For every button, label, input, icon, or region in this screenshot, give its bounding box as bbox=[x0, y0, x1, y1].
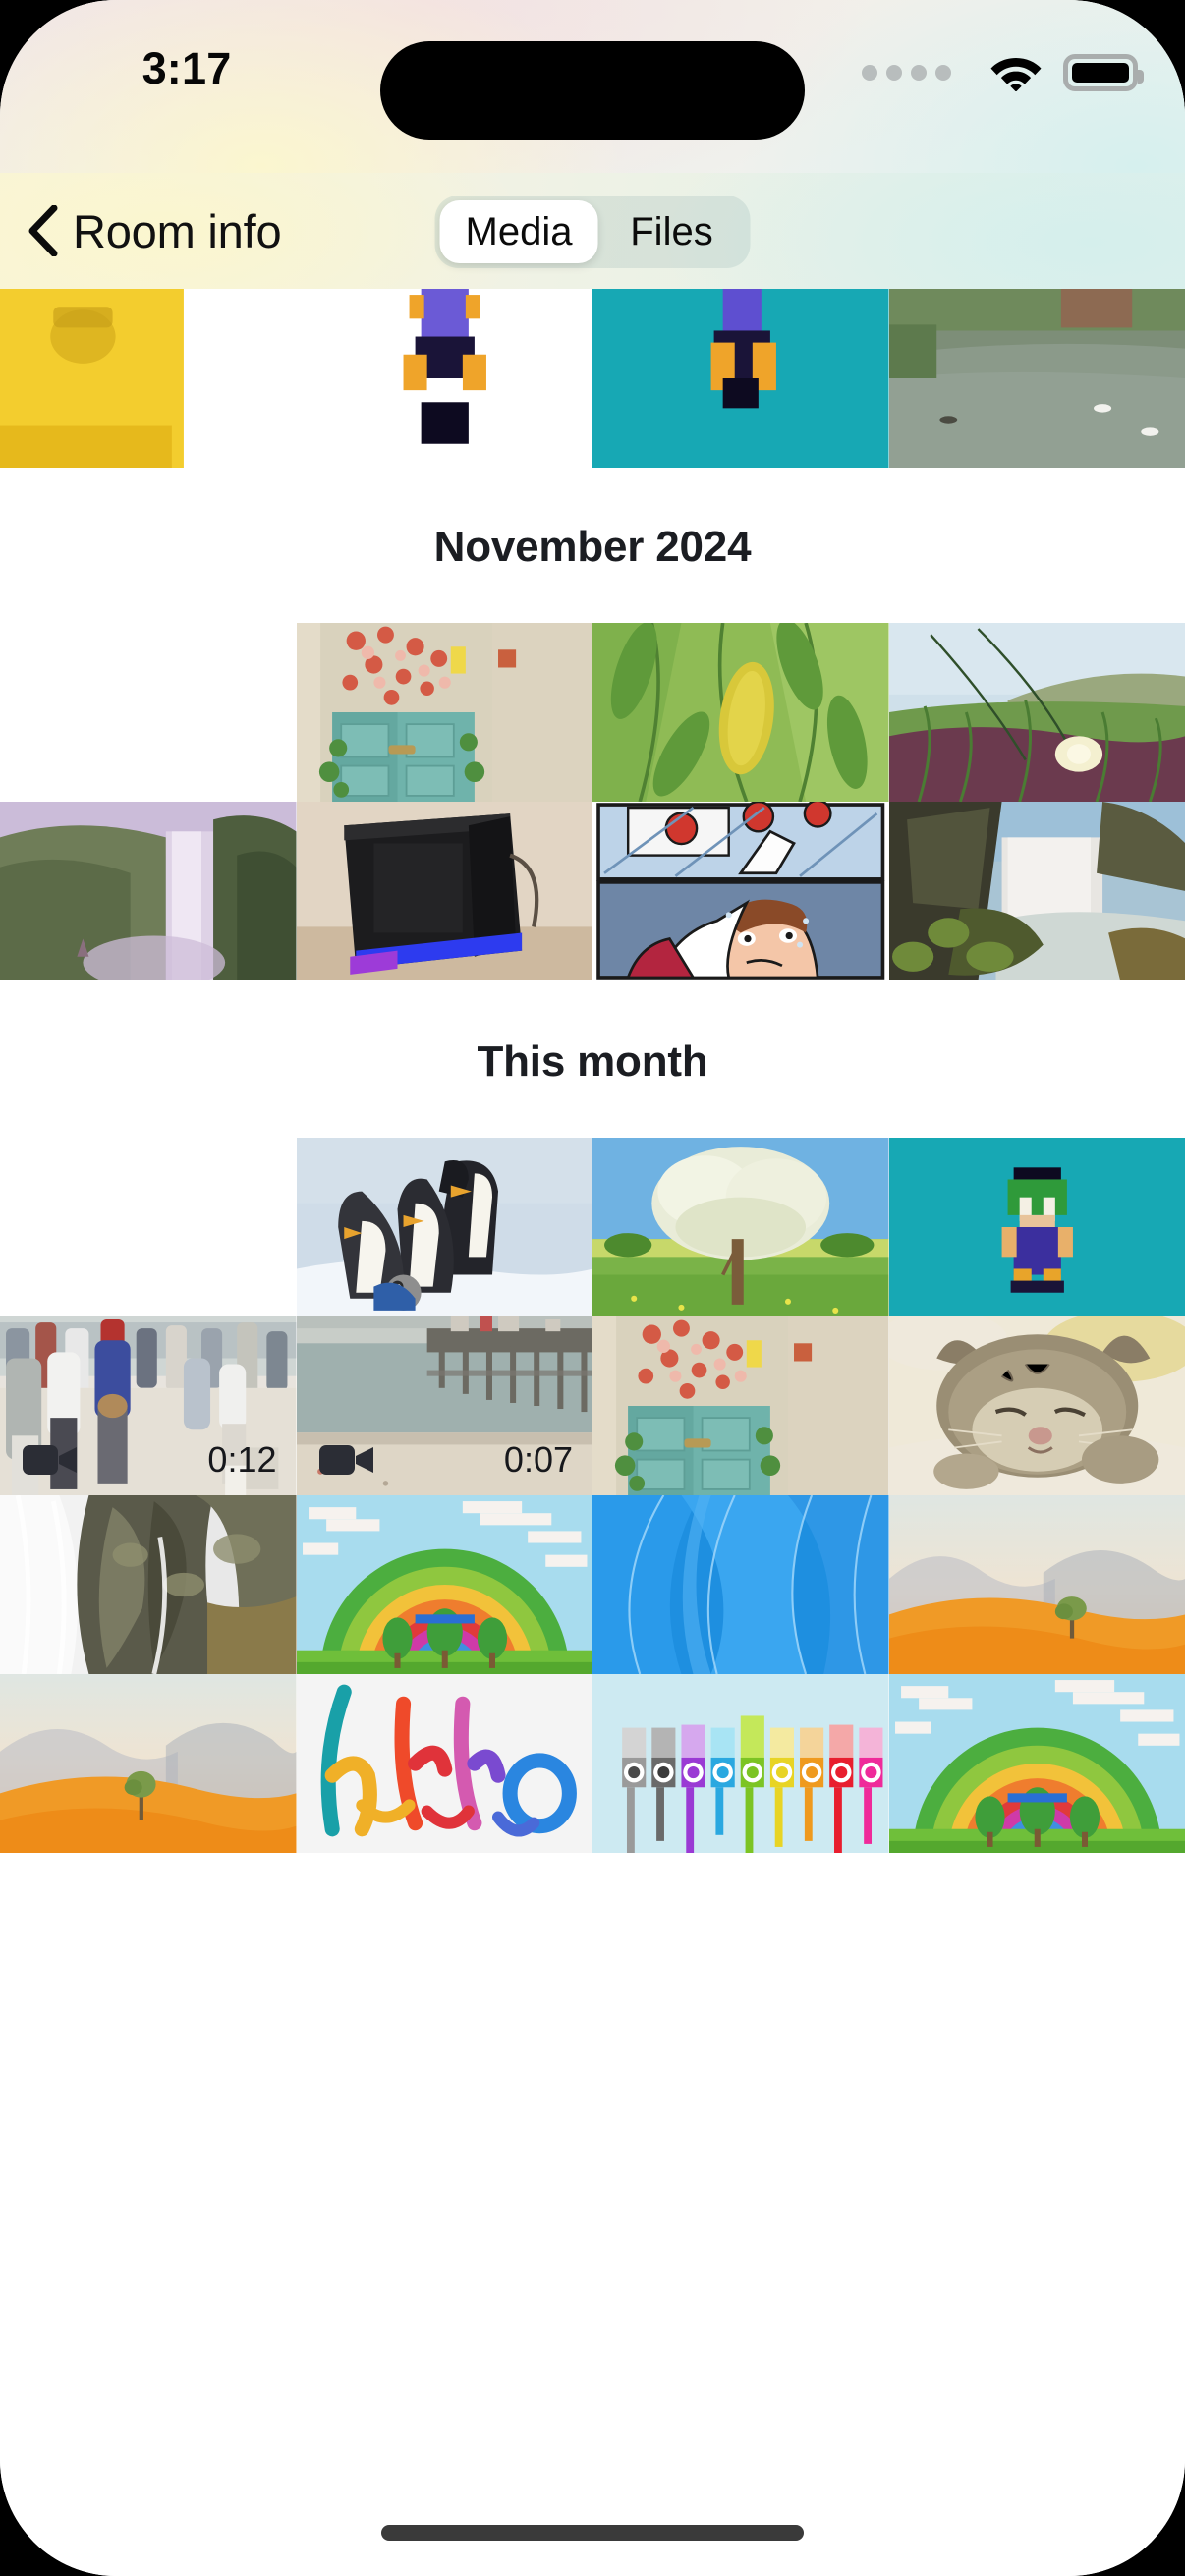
battery-full-icon bbox=[1063, 54, 1138, 91]
phone-screen: 3:17 Room info Media Files bbox=[0, 0, 1185, 2576]
tab-media[interactable]: Media bbox=[440, 200, 598, 263]
media-item-river-canal[interactable] bbox=[889, 289, 1185, 468]
segmented-control[interactable]: Media Files bbox=[435, 196, 751, 268]
media-item-teal-door-flowers[interactable] bbox=[297, 623, 593, 802]
section-header-november: November 2024 bbox=[0, 523, 1185, 572]
media-grid-partial bbox=[0, 289, 1185, 468]
blue-abstract-art bbox=[592, 1495, 889, 1674]
media-item-green-leaves[interactable] bbox=[592, 623, 889, 802]
video-camera-icon bbox=[22, 1440, 79, 1480]
media-grid-this-month: 0:12 bbox=[0, 1138, 1185, 1853]
media-item-pixel-sprite-green-hair[interactable] bbox=[889, 1138, 1185, 1316]
pixel-sprite-white-art bbox=[297, 289, 593, 468]
pc-tower-art bbox=[297, 802, 593, 980]
video-badge: 0:12 bbox=[0, 1430, 297, 1495]
status-bar: 3:17 bbox=[0, 0, 1185, 173]
media-item-beach-grass[interactable] bbox=[889, 623, 1185, 802]
desert-lone-tree-art bbox=[0, 1674, 297, 1853]
media-item-pier-beach-video[interactable]: 0:07 bbox=[297, 1316, 593, 1495]
media-item-pixel-sprite-teal[interactable] bbox=[592, 289, 889, 468]
chevron-left-icon bbox=[26, 205, 59, 256]
home-indicator[interactable] bbox=[381, 2525, 804, 2541]
waterfall-bw-art bbox=[0, 1495, 297, 1674]
bottom-safe-area bbox=[0, 2450, 1185, 2576]
beach-grass-art bbox=[889, 623, 1185, 802]
dripping-markers-art bbox=[592, 1674, 889, 1853]
yellow-abstract-art bbox=[0, 289, 297, 468]
blossom-tree-art bbox=[592, 1138, 889, 1316]
status-clock: 3:17 bbox=[0, 43, 373, 94]
teal-door-flowers-art bbox=[297, 623, 593, 802]
media-item-pixel-rainbow[interactable] bbox=[297, 1495, 593, 1674]
media-scroll-area[interactable]: November 2024 bbox=[0, 289, 1185, 2450]
media-item-teal-door-flowers[interactable] bbox=[592, 1316, 889, 1495]
green-leaves-art bbox=[592, 623, 889, 802]
media-item-waterfall-purple[interactable] bbox=[0, 802, 297, 980]
pixel-sprite-green-hair-art bbox=[889, 1138, 1185, 1316]
pixel-rainbow-art bbox=[297, 1495, 593, 1674]
media-item-yellow-abstract[interactable] bbox=[0, 289, 297, 468]
back-label: Room info bbox=[73, 204, 281, 258]
media-item-pixel-rainbow[interactable] bbox=[889, 1674, 1185, 1853]
hello-lettering-art bbox=[297, 1674, 593, 1853]
media-item-pixel-sprite-white[interactable] bbox=[297, 289, 593, 468]
media-item-waterfall-rocky[interactable] bbox=[889, 802, 1185, 980]
sleeping-kitten-art bbox=[889, 1316, 1185, 1495]
media-item-waterfall-bw[interactable] bbox=[0, 1495, 297, 1674]
media-item-desert-lone-tree[interactable] bbox=[0, 1674, 297, 1853]
video-duration: 0:12 bbox=[207, 1439, 276, 1481]
desert-lone-tree-art bbox=[889, 1495, 1185, 1674]
status-icons bbox=[862, 54, 1138, 91]
media-item-pc-tower[interactable] bbox=[297, 802, 593, 980]
media-item-sleeping-kitten[interactable] bbox=[889, 1316, 1185, 1495]
nav-bar: Room info Media Files bbox=[0, 173, 1185, 289]
penguins-art bbox=[297, 1138, 593, 1316]
media-grid-november bbox=[0, 623, 1185, 980]
back-button[interactable]: Room info bbox=[26, 204, 281, 258]
cellular-dots-icon bbox=[862, 65, 951, 81]
media-item-empty bbox=[0, 623, 297, 802]
section-header-this-month: This month bbox=[0, 1037, 1185, 1087]
pixel-rainbow-art bbox=[889, 1674, 1185, 1853]
pixel-sprite-teal-art bbox=[592, 289, 889, 468]
media-item-blue-abstract[interactable] bbox=[592, 1495, 889, 1674]
teal-door-flowers-art bbox=[592, 1316, 889, 1495]
media-item-crowd-street-video[interactable]: 0:12 bbox=[0, 1316, 297, 1495]
media-item-blossom-tree[interactable] bbox=[592, 1138, 889, 1316]
media-item-dripping-markers[interactable] bbox=[592, 1674, 889, 1853]
tab-files[interactable]: Files bbox=[597, 200, 745, 263]
video-camera-icon bbox=[318, 1440, 375, 1480]
river-canal-art bbox=[889, 289, 1185, 468]
media-item-penguins[interactable] bbox=[297, 1138, 593, 1316]
media-item-sweating-guy-meme[interactable] bbox=[592, 802, 889, 980]
waterfall-rocky-art bbox=[889, 802, 1185, 980]
waterfall-purple-art bbox=[0, 802, 297, 980]
video-duration: 0:07 bbox=[504, 1439, 573, 1481]
dynamic-island bbox=[380, 41, 805, 140]
media-item-hello-lettering[interactable] bbox=[297, 1674, 593, 1853]
sweating-guy-meme-art bbox=[592, 802, 889, 980]
video-badge: 0:07 bbox=[297, 1430, 593, 1495]
wifi-icon bbox=[990, 54, 1042, 91]
media-item-empty bbox=[0, 1138, 297, 1316]
media-item-desert-lone-tree[interactable] bbox=[889, 1495, 1185, 1674]
